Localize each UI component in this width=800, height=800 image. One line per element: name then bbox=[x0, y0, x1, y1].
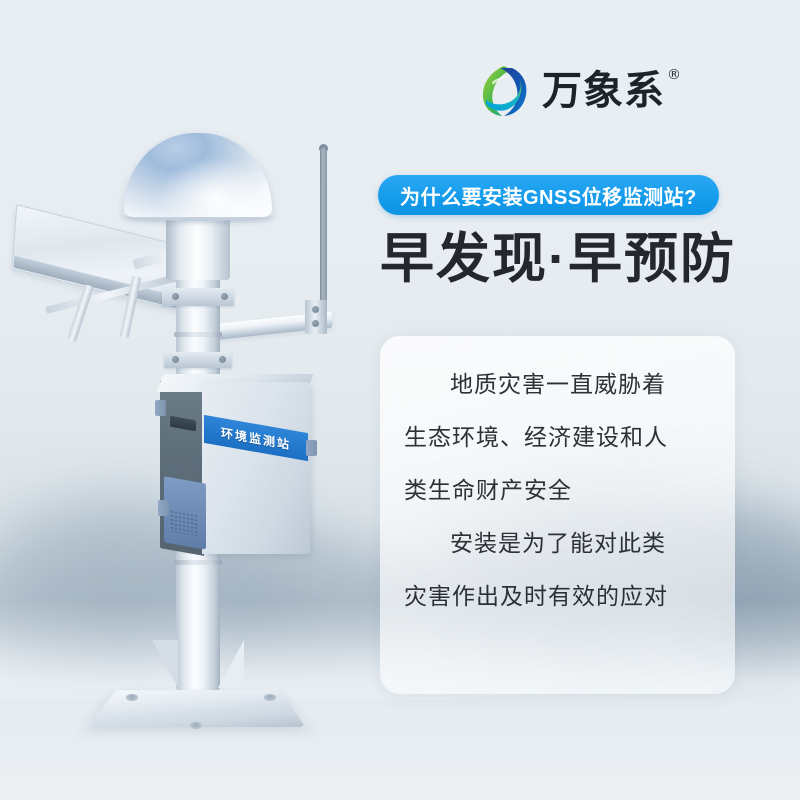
brand-name: 万象系 ® bbox=[542, 71, 665, 111]
info-line: 类生命财产安全 bbox=[404, 476, 711, 506]
bolt bbox=[172, 293, 179, 300]
info-card: 地质灾害一直威胁着 生态环境、经济建设和人 类生命财产安全 安装是为了能对此类 … bbox=[380, 336, 735, 694]
cabinet-front bbox=[202, 382, 310, 554]
gnss-antenna-dome bbox=[124, 133, 272, 217]
bolt bbox=[172, 356, 179, 363]
mast-joint-band bbox=[174, 332, 222, 337]
question-badge: 为什么要安装GNSS位移监测站? bbox=[378, 175, 719, 215]
bolt bbox=[312, 320, 319, 327]
cabinet-latch bbox=[306, 440, 317, 456]
marketing-content: 万象系 ® 为什么要安装GNSS位移监测站? 早发现·早预防 地质灾害一直威胁着… bbox=[360, 0, 800, 800]
antenna-neck bbox=[166, 214, 230, 280]
globe-swirl-icon bbox=[478, 64, 530, 118]
base-bolt-hole bbox=[126, 694, 138, 701]
solar-panel-strut bbox=[67, 284, 93, 342]
bolt bbox=[219, 356, 226, 363]
registered-trademark-icon: ® bbox=[667, 68, 682, 82]
page-title: 早发现·早预防 bbox=[380, 228, 736, 290]
base-gusset bbox=[152, 640, 178, 688]
mast-joint-band bbox=[174, 560, 222, 565]
cabinet-hinge bbox=[158, 500, 169, 516]
base-gusset bbox=[218, 640, 244, 688]
info-line: 生态环境、经济建设和人 bbox=[404, 423, 711, 453]
whip-antenna bbox=[320, 148, 327, 324]
bolt bbox=[312, 306, 319, 313]
cabinet-grill bbox=[170, 510, 198, 537]
bolt bbox=[221, 293, 228, 300]
info-line: 安装是为了能对此类 bbox=[404, 529, 711, 559]
info-line: 灾害作出及时有效的应对 bbox=[404, 582, 711, 612]
info-line: 地质灾害一直威胁着 bbox=[404, 370, 711, 400]
info-card-body: 地质灾害一直威胁着 生态环境、经济建设和人 类生命财产安全 安装是为了能对此类 … bbox=[380, 370, 735, 611]
cabinet-hinge bbox=[155, 400, 166, 416]
brand-name-text: 万象系 bbox=[542, 68, 665, 114]
brand-logo: 万象系 ® bbox=[478, 64, 665, 118]
gnss-station-illustration: 环境监测站 bbox=[0, 0, 400, 800]
base-bolt-hole bbox=[264, 694, 276, 701]
base-bolt-hole bbox=[190, 722, 202, 729]
